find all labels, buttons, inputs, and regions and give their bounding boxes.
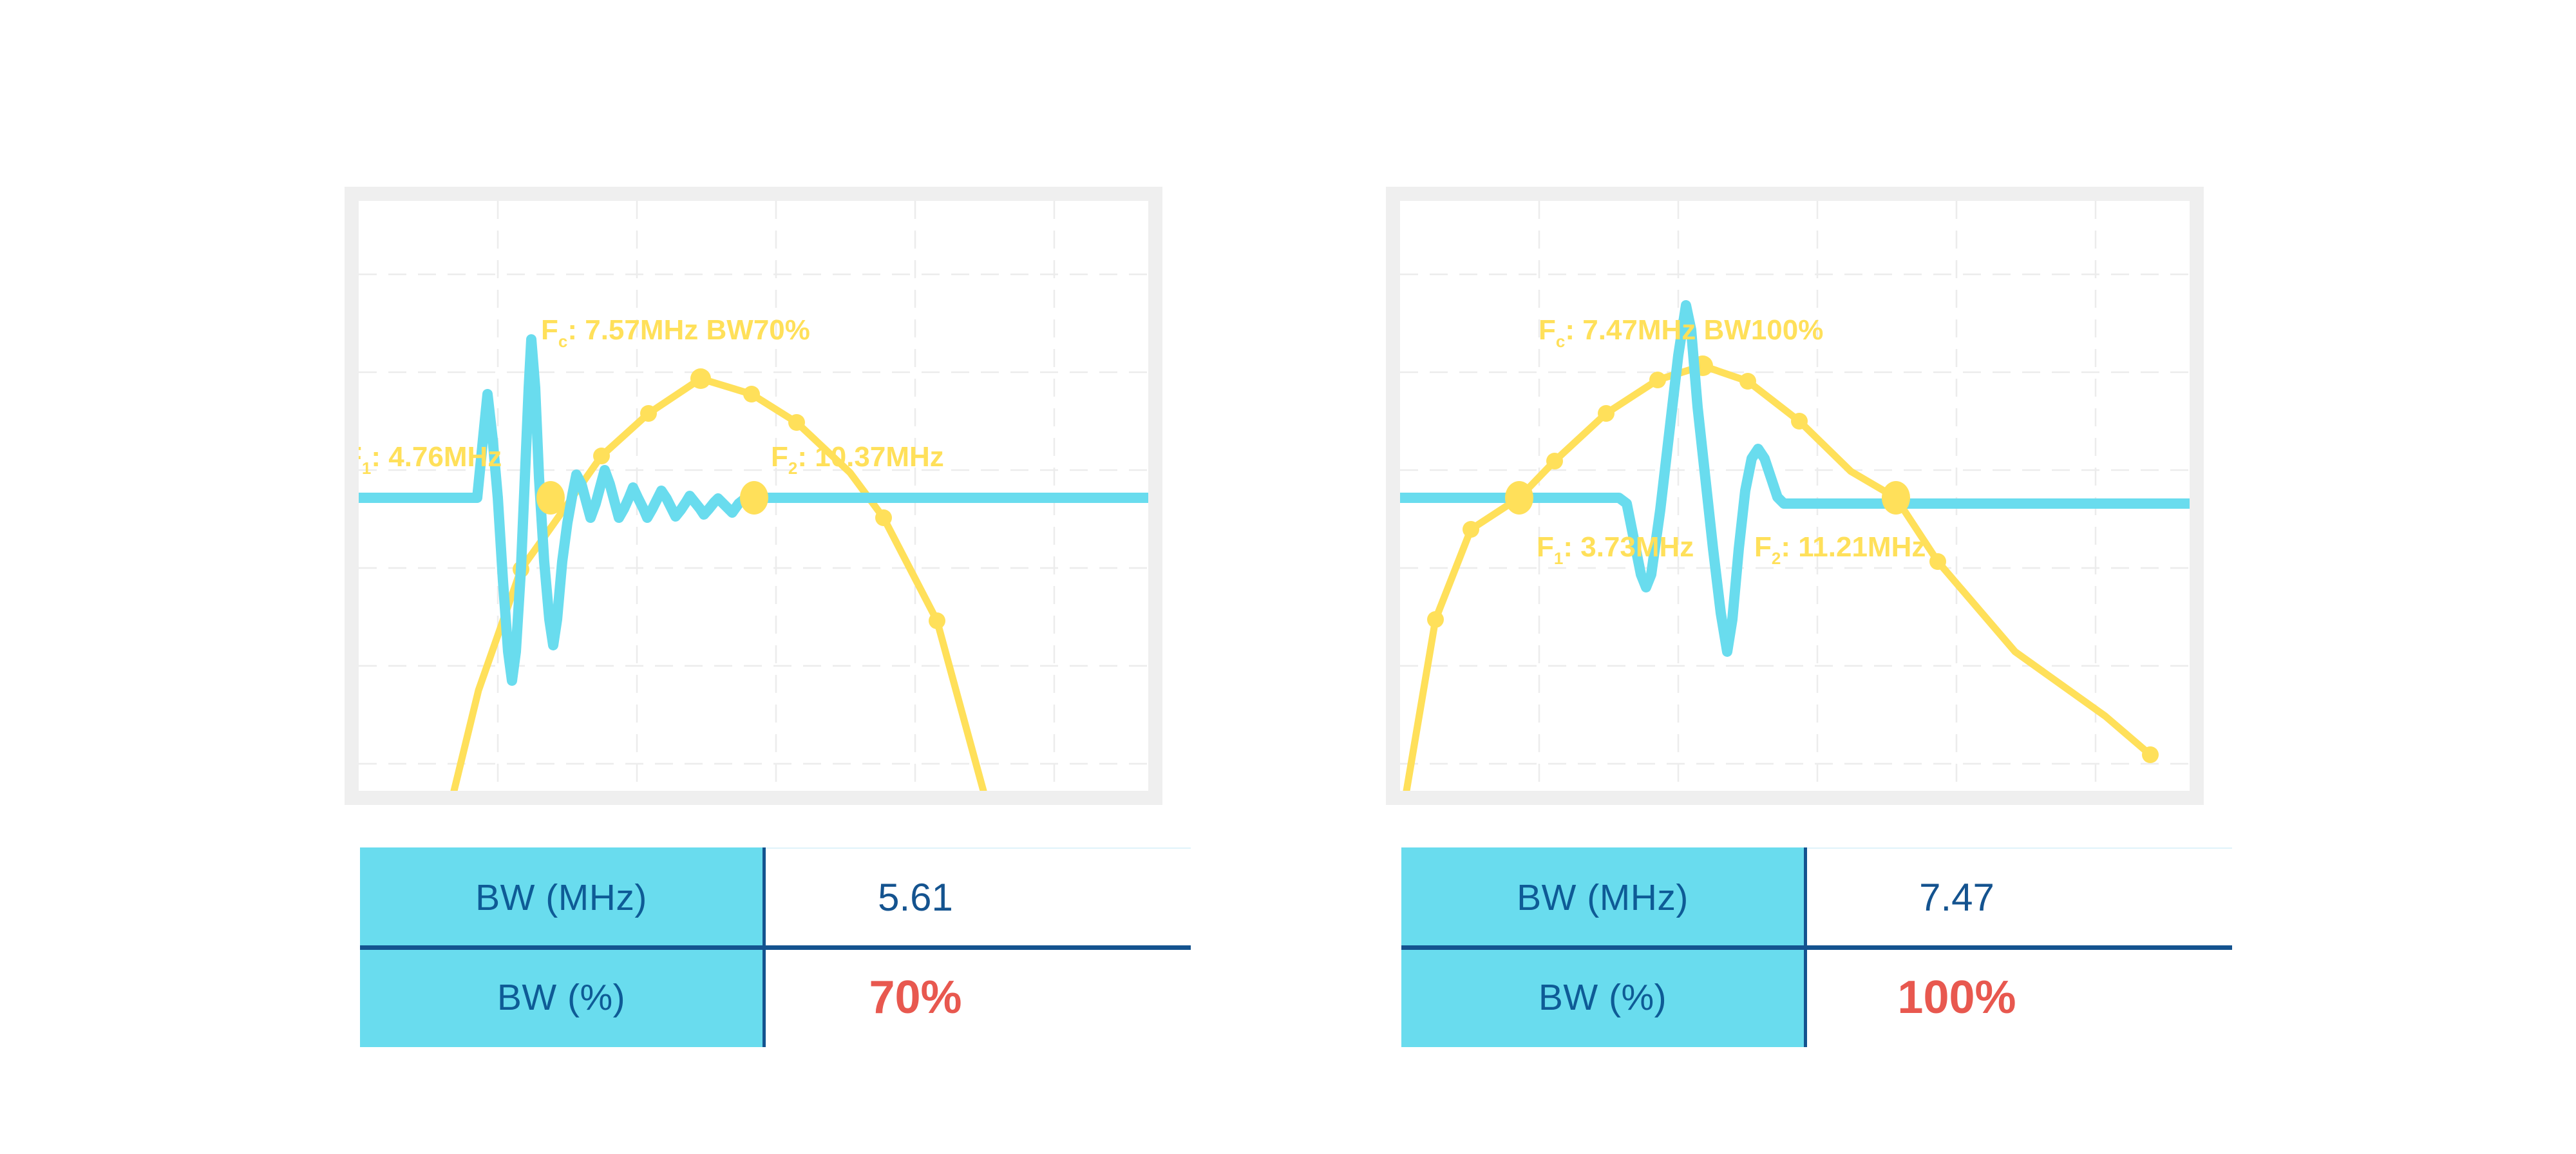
bw-mhz-value-cell: 5.61 — [762, 847, 1191, 947]
bw-percent-value-cell: 100% — [1804, 947, 2232, 1047]
bw-mhz-value-cell: 7.47 — [1804, 847, 2232, 947]
panel-right: Fc: 7.47MHz BW100% F1: 3.73MHz F2: 11.21… — [1386, 187, 2204, 805]
annotation-f2: F2: 10.37MHz — [771, 441, 944, 478]
table-row-divider — [1401, 945, 2232, 950]
pulse-waveform — [1400, 305, 2190, 652]
marker-f2 — [1882, 481, 1910, 515]
table-row: BW (%) 70% — [360, 947, 1191, 1047]
bw-percent-value: 70% — [869, 971, 961, 1024]
chart-frame-right: Fc: 7.47MHz BW100% F1: 3.73MHz F2: 11.21… — [1386, 187, 2204, 805]
marker-f2 — [740, 481, 768, 515]
table-row: BW (MHz) 5.61 — [360, 847, 1191, 947]
table-row: BW (MHz) 7.47 — [1401, 847, 2232, 947]
marker-f1 — [536, 481, 565, 515]
bw-percent-value-cell: 70% — [762, 947, 1191, 1047]
annotation-f2: F2: 11.21MHz — [1754, 531, 1926, 568]
bw-mhz-value: 5.61 — [878, 875, 953, 920]
panel-left: Fc: 7.57MHz BW70% F1: 4.76MHz F2: 10.37M… — [345, 187, 1162, 805]
annotation-fc: Fc: 7.47MHz BW100% — [1539, 314, 1823, 351]
marker-f1 — [1505, 481, 1533, 515]
bw-mhz-label: BW (MHz) — [360, 847, 762, 947]
spectrum-chart-right: Fc: 7.47MHz BW100% F1: 3.73MHz F2: 11.21… — [1400, 201, 2190, 791]
bw-table-right: BW (MHz) 7.47 BW (%) 100% — [1401, 847, 2232, 1047]
table-row-divider — [360, 945, 1191, 950]
spectrum-curve — [1406, 366, 2150, 791]
chart-frame-left: Fc: 7.57MHz BW70% F1: 4.76MHz F2: 10.37M… — [345, 187, 1162, 805]
bw-percent-label: BW (%) — [1401, 947, 1804, 1047]
bw-mhz-label: BW (MHz) — [1401, 847, 1804, 947]
bw-percent-value: 100% — [1897, 971, 2016, 1024]
dual-panel-report: Fc: 7.57MHz BW70% F1: 4.76MHz F2: 10.37M… — [0, 0, 2576, 1154]
bw-percent-label: BW (%) — [360, 947, 762, 1047]
annotation-f1: F1: 4.76MHz — [359, 441, 502, 478]
bw-table-left: BW (MHz) 5.61 BW (%) 70% — [360, 847, 1191, 1047]
bw-mhz-value: 7.47 — [1919, 875, 1994, 920]
table-row: BW (%) 100% — [1401, 947, 2232, 1047]
annotation-f1: F1: 3.73MHz — [1537, 531, 1694, 568]
annotation-fc: Fc: 7.57MHz BW70% — [541, 314, 810, 351]
spectrum-chart-left: Fc: 7.57MHz BW70% F1: 4.76MHz F2: 10.37M… — [359, 201, 1148, 791]
